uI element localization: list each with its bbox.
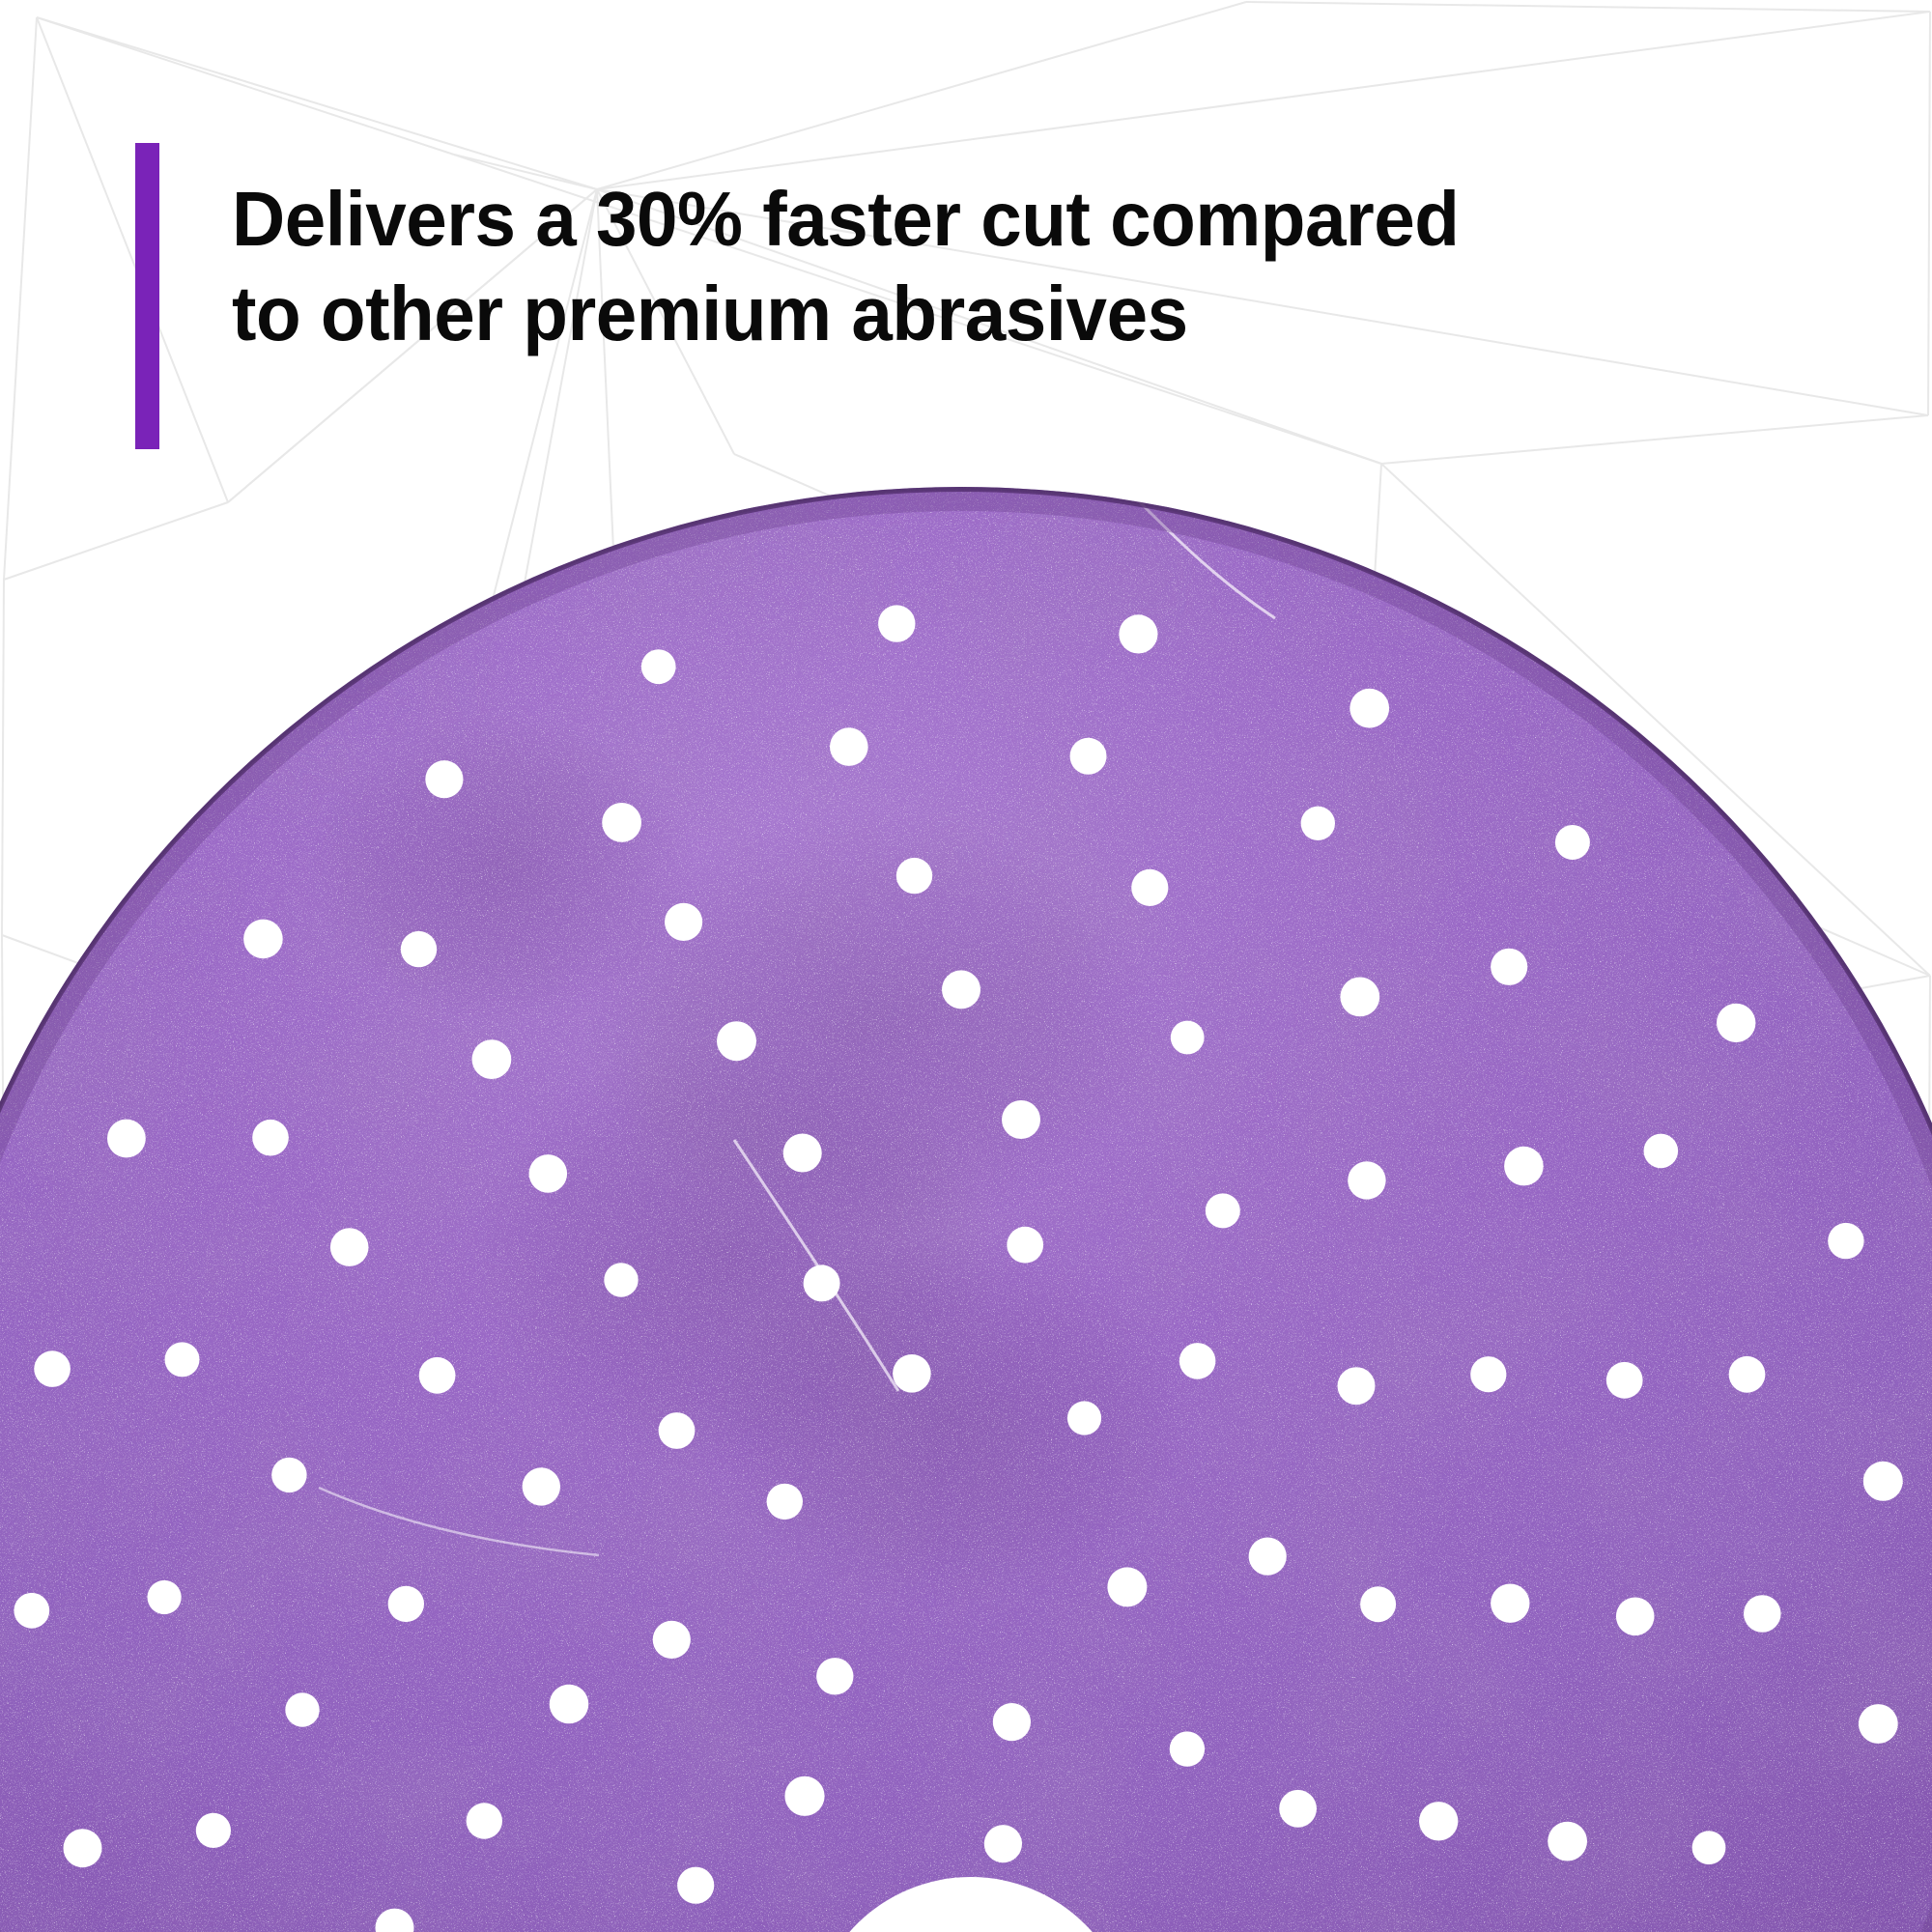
dust-extraction-hole bbox=[1338, 1367, 1376, 1405]
dust-extraction-hole bbox=[64, 1829, 102, 1867]
dust-extraction-hole bbox=[1070, 738, 1107, 775]
dust-extraction-hole bbox=[1692, 1831, 1726, 1864]
dust-extraction-hole bbox=[148, 1580, 182, 1614]
dust-extraction-hole bbox=[717, 1021, 756, 1061]
dust-extraction-hole bbox=[677, 1867, 714, 1904]
dust-extraction-hole bbox=[1002, 1100, 1040, 1139]
dust-extraction-hole bbox=[285, 1692, 319, 1726]
dust-extraction-hole bbox=[784, 1776, 824, 1816]
dust-extraction-hole bbox=[196, 1813, 231, 1848]
dust-extraction-hole bbox=[653, 1621, 691, 1659]
dust-extraction-hole bbox=[1348, 1161, 1385, 1199]
headline-line-1: Delivers a 30% faster cut compared bbox=[232, 172, 1459, 267]
dust-extraction-hole bbox=[1007, 1227, 1043, 1264]
product-callout-canvas: Delivers a 30% faster cut compared to ot… bbox=[0, 0, 1932, 1932]
dust-extraction-hole bbox=[1119, 614, 1157, 653]
dust-extraction-hole bbox=[1279, 1790, 1317, 1828]
dust-extraction-hole bbox=[14, 1593, 49, 1629]
headline-block: Delivers a 30% faster cut compared to ot… bbox=[135, 143, 1517, 449]
dust-extraction-hole bbox=[1171, 1021, 1205, 1055]
dust-extraction-hole bbox=[1606, 1362, 1643, 1399]
dust-extraction-hole bbox=[1107, 1567, 1147, 1606]
dust-extraction-hole bbox=[1744, 1595, 1781, 1633]
dust-extraction-hole bbox=[1717, 1004, 1755, 1042]
dust-extraction-hole bbox=[472, 1039, 512, 1079]
dust-extraction-hole bbox=[34, 1350, 71, 1387]
dust-extraction-hole bbox=[816, 1658, 853, 1694]
dust-extraction-hole bbox=[1863, 1462, 1903, 1501]
dust-extraction-hole bbox=[523, 1467, 560, 1505]
dust-extraction-hole bbox=[896, 858, 932, 894]
dust-extraction-hole bbox=[1249, 1538, 1287, 1576]
dust-extraction-hole bbox=[425, 760, 463, 798]
dust-extraction-hole bbox=[659, 1412, 696, 1449]
dust-extraction-hole bbox=[467, 1803, 502, 1838]
dust-extraction-hole bbox=[1616, 1598, 1655, 1636]
dust-extraction-hole bbox=[1067, 1401, 1101, 1435]
dust-extraction-hole bbox=[1828, 1223, 1863, 1259]
dust-extraction-hole bbox=[830, 727, 868, 766]
dust-extraction-hole bbox=[1206, 1193, 1240, 1228]
dust-extraction-hole bbox=[783, 1134, 822, 1173]
dust-extraction-hole bbox=[1360, 1586, 1396, 1622]
dust-extraction-hole bbox=[1179, 1343, 1216, 1379]
headline-line-2: to other premium abrasives bbox=[232, 267, 1459, 361]
dust-extraction-hole bbox=[1729, 1356, 1766, 1393]
dust-extraction-hole bbox=[165, 1342, 200, 1377]
dust-extraction-hole bbox=[1131, 869, 1168, 906]
dust-extraction-hole bbox=[330, 1228, 369, 1266]
dust-extraction-hole bbox=[243, 920, 283, 959]
dust-extraction-hole bbox=[1859, 1704, 1898, 1744]
dust-extraction-hole bbox=[804, 1264, 840, 1301]
dust-extraction-hole bbox=[1644, 1134, 1679, 1169]
dust-extraction-hole bbox=[942, 970, 980, 1009]
dust-extraction-hole bbox=[1419, 1802, 1458, 1840]
dust-extraction-hole bbox=[641, 649, 676, 684]
dust-extraction-hole bbox=[1170, 1731, 1205, 1766]
dust-extraction-hole bbox=[271, 1458, 306, 1492]
dust-extraction-hole bbox=[550, 1685, 589, 1724]
dust-extraction-hole bbox=[1470, 1356, 1506, 1392]
dust-extraction-hole bbox=[1555, 825, 1590, 860]
dust-extraction-hole bbox=[993, 1703, 1031, 1741]
dust-extraction-hole bbox=[529, 1154, 568, 1193]
dust-extraction-hole bbox=[604, 1263, 638, 1296]
dust-extraction-hole bbox=[665, 903, 702, 941]
dust-extraction-hole bbox=[107, 1120, 146, 1158]
dust-extraction-hole bbox=[1548, 1822, 1587, 1861]
dust-extraction-hole bbox=[1491, 949, 1527, 985]
dust-extraction-hole bbox=[1350, 689, 1389, 728]
dust-extraction-hole bbox=[419, 1357, 456, 1394]
dust-extraction-hole bbox=[878, 605, 915, 641]
dust-extraction-hole bbox=[401, 931, 437, 967]
dust-extraction-hole bbox=[1504, 1147, 1544, 1186]
dust-extraction-hole bbox=[767, 1484, 803, 1520]
headline-text: Delivers a 30% faster cut compared to ot… bbox=[232, 172, 1517, 360]
dust-extraction-hole bbox=[984, 1825, 1022, 1862]
dust-extraction-hole bbox=[1301, 807, 1335, 840]
dust-extraction-hole bbox=[388, 1586, 424, 1622]
dust-extraction-hole bbox=[1491, 1584, 1529, 1623]
dust-extraction-hole bbox=[893, 1354, 931, 1393]
purple-accent-bar bbox=[135, 143, 159, 449]
dust-extraction-hole bbox=[252, 1120, 289, 1156]
dust-extraction-hole bbox=[602, 803, 641, 842]
dust-extraction-hole bbox=[1340, 978, 1379, 1017]
